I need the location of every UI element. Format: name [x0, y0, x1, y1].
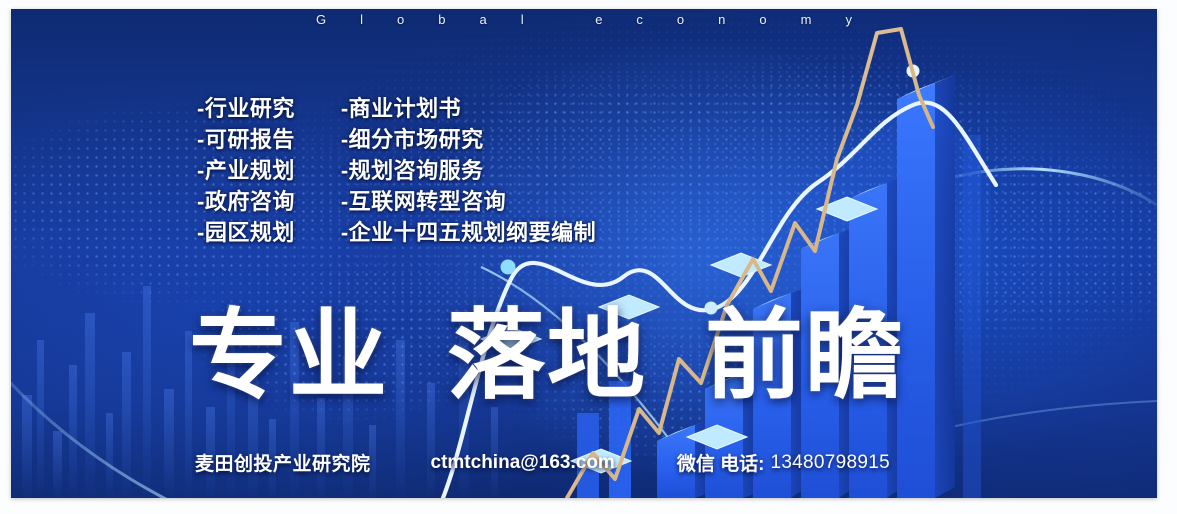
poster-panel: Global economy -行业研究 -可研报告 -产业规划 -政府咨询 -… — [11, 9, 1157, 498]
services-lists: -行业研究 -可研报告 -产业规划 -政府咨询 -园区规划 -商业计划书 -细分… — [197, 93, 596, 248]
service-item: -可研报告 — [197, 124, 295, 155]
service-item: -商业计划书 — [341, 93, 596, 124]
curve-node-dot — [501, 260, 516, 275]
email-address[interactable]: ctmtchina@163.com — [431, 452, 615, 474]
service-item: -政府咨询 — [197, 186, 295, 217]
service-item: -互联网转型咨询 — [341, 186, 596, 217]
organization-name: 麦田创投产业研究院 — [195, 449, 371, 476]
service-item: -细分市场研究 — [341, 124, 596, 155]
footer-contact-bar: 麦田创投产业研究院 ctmtchina@163.com 微信 电话: 13480… — [195, 449, 890, 476]
service-item: -产业规划 — [197, 155, 295, 186]
banner-root: Global economy -行业研究 -可研报告 -产业规划 -政府咨询 -… — [0, 0, 1177, 514]
phone-number[interactable]: 13480798915 — [770, 452, 890, 474]
services-column-right: -商业计划书 -细分市场研究 -规划咨询服务 -互联网转型咨询 -企业十四五规划… — [341, 93, 596, 248]
headline-word: 前瞻 — [705, 303, 905, 407]
headline-word: 专业 — [189, 303, 389, 407]
service-item: -行业研究 — [197, 93, 295, 124]
contact-label: 微信 电话: — [677, 449, 765, 476]
kicker-global-economy: Global economy — [11, 12, 1157, 27]
headline: 专业 落地 前瞻 — [189, 303, 905, 407]
service-item: -企业十四五规划纲要编制 — [341, 217, 596, 248]
service-item: -园区规划 — [197, 217, 295, 248]
service-item: -规划咨询服务 — [341, 155, 596, 186]
headline-word: 落地 — [447, 303, 647, 407]
economy-chart-graphic — [11, 9, 1157, 498]
services-column-left: -行业研究 -可研报告 -产业规划 -政府咨询 -园区规划 — [197, 93, 295, 248]
